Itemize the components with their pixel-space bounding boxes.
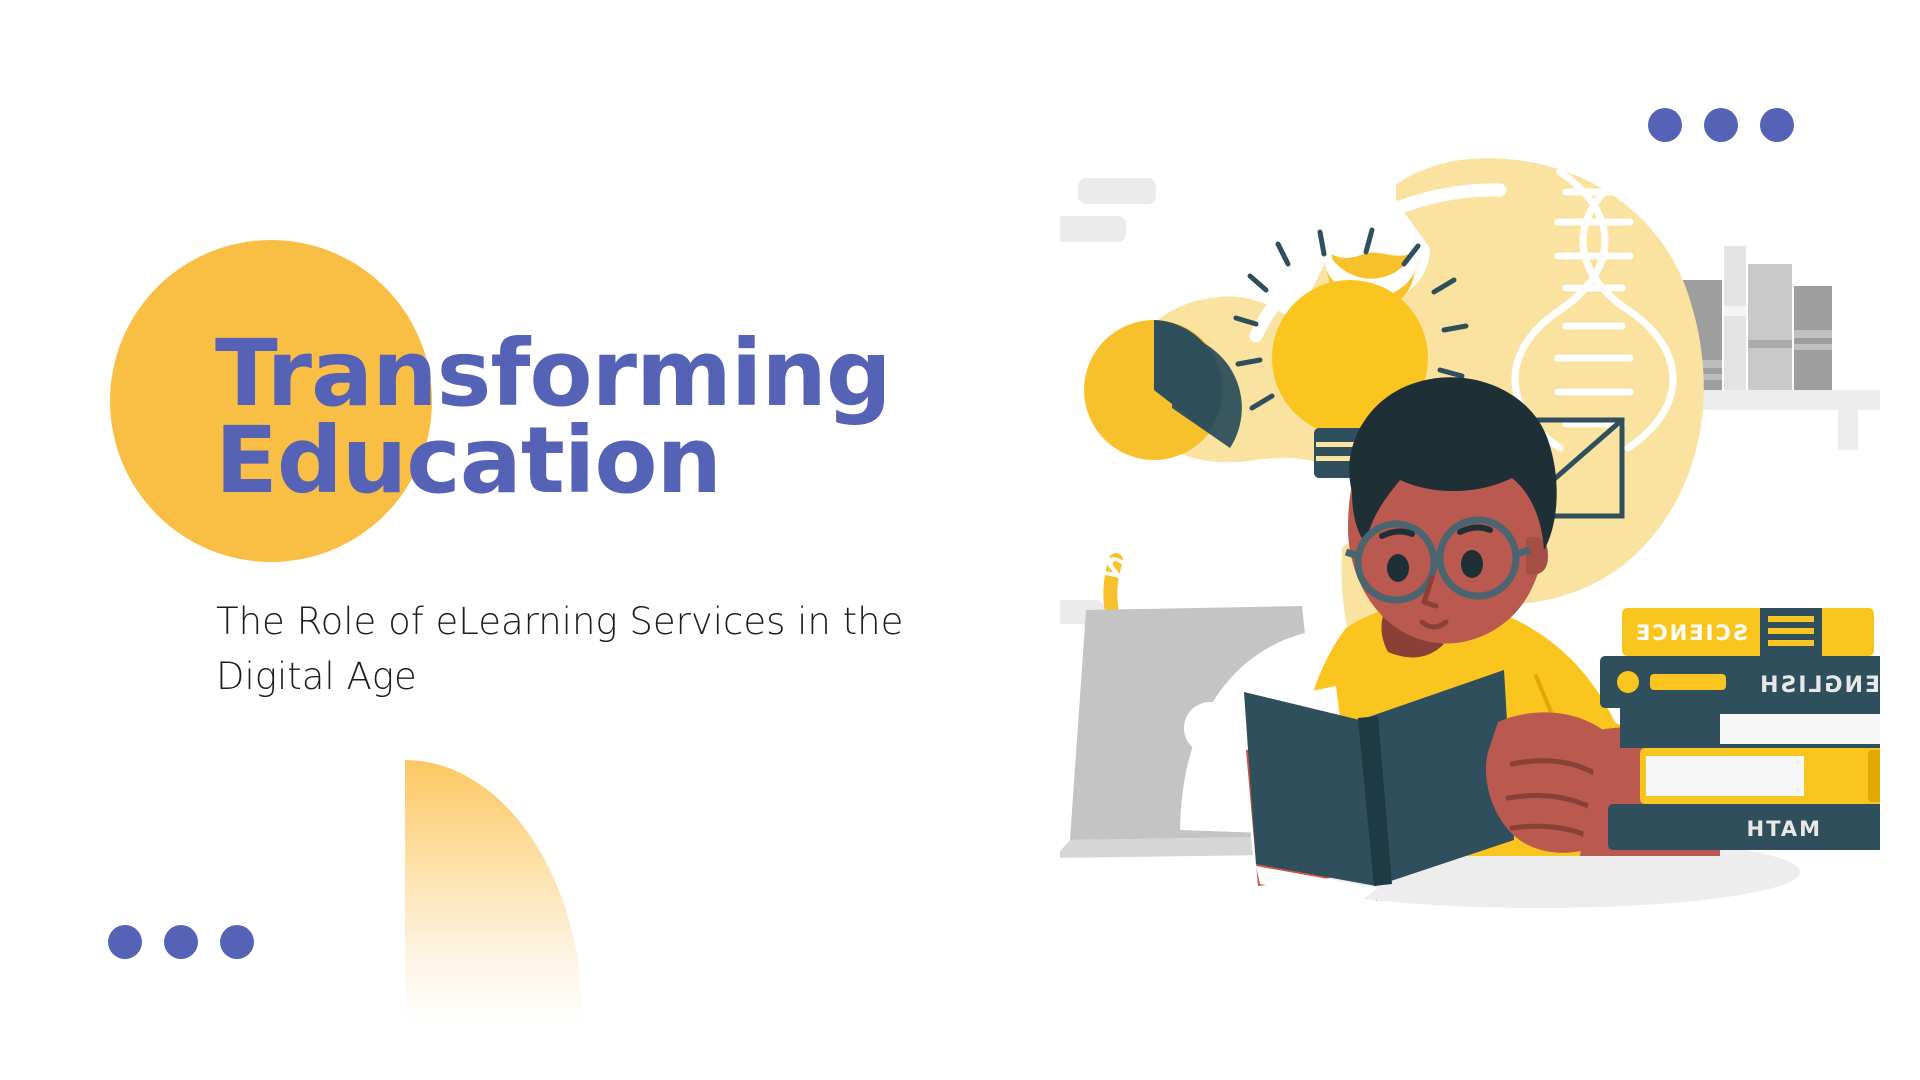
svg-text:MATH: MATH: [1745, 817, 1820, 841]
quarter-circle-decoration: [405, 760, 583, 1022]
svg-text:ENGLISH: ENGLISH: [1758, 673, 1880, 698]
book-spine-label-science: SCIENCE: [1634, 621, 1748, 645]
book-spine-label-english: ENGLISH: [1758, 673, 1880, 698]
title-line-1: Transforming: [215, 330, 1005, 417]
slide-canvas: Transforming Education The Role of eLear…: [0, 0, 1920, 1080]
svg-text:SCIENCE: SCIENCE: [1634, 621, 1748, 645]
dot-icon: [164, 925, 198, 959]
book-stack: SCIENCE ENGLISH: [1600, 608, 1880, 850]
dots-bottom-left: [108, 925, 254, 959]
dot-icon: [220, 925, 254, 959]
book-english: ENGLISH: [1600, 656, 1880, 708]
dot-icon: [108, 925, 142, 959]
book-yellow: [1640, 748, 1880, 804]
title-line-2: Education: [215, 417, 1005, 504]
book-math: MATH: [1608, 804, 1880, 850]
book-spine-label-math: MATH: [1745, 817, 1820, 841]
student-illustration: x: [1060, 130, 1880, 950]
subtitle: The Role of eLearning Services in the Di…: [216, 595, 956, 705]
book-science: SCIENCE: [1622, 608, 1874, 656]
page-title: Transforming Education: [215, 330, 1005, 505]
